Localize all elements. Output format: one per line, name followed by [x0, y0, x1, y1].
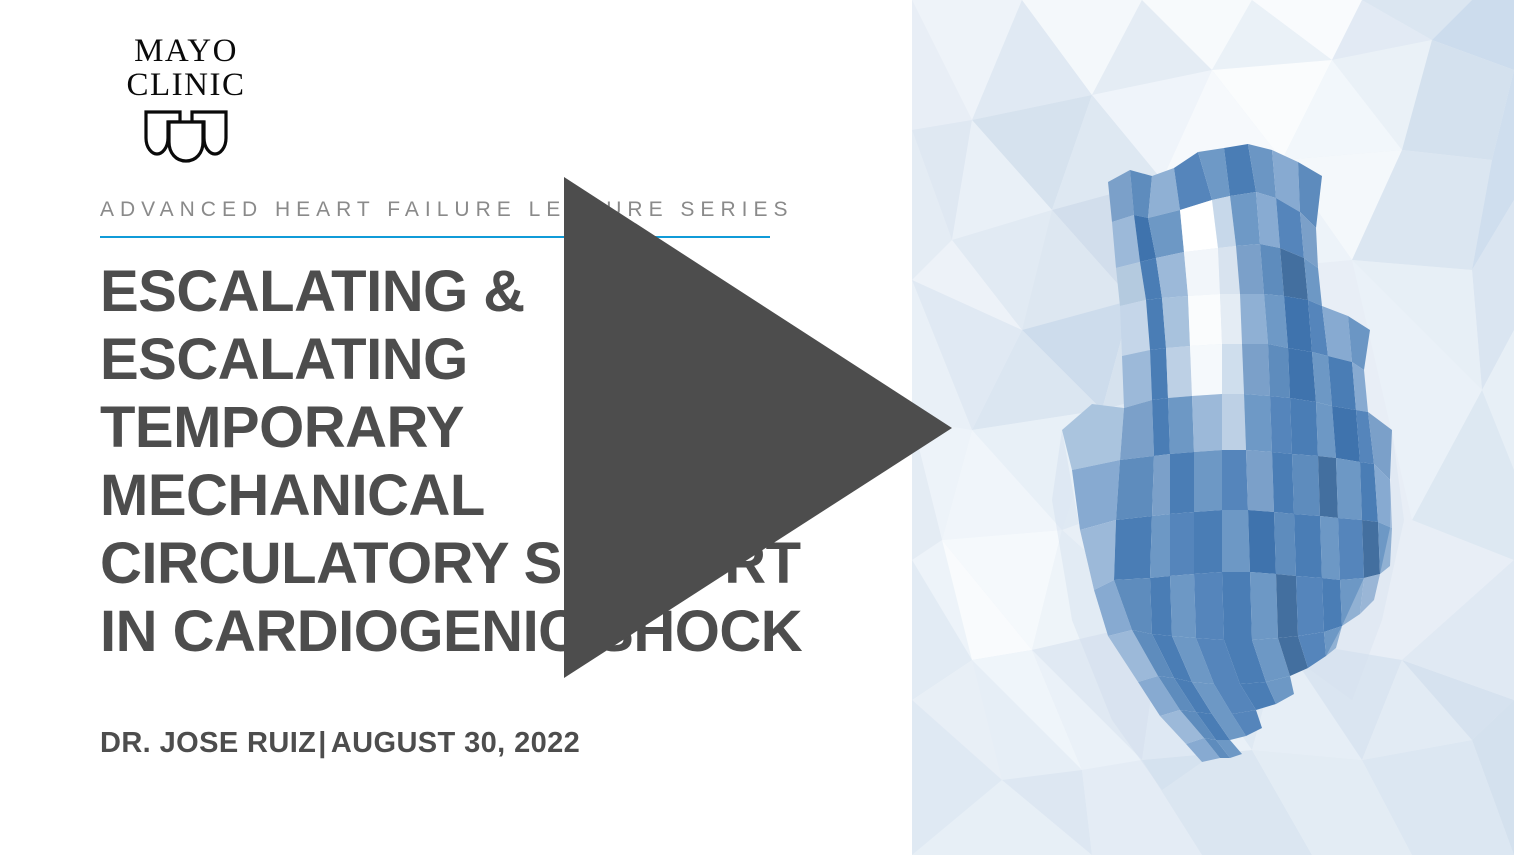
- play-triangle-icon[interactable]: [564, 177, 952, 678]
- video-play-overlay[interactable]: [0, 0, 1514, 855]
- video-slide-frame: MAYO CLINIC ADVANCED HEART FAILURE LECTU…: [0, 0, 1514, 855]
